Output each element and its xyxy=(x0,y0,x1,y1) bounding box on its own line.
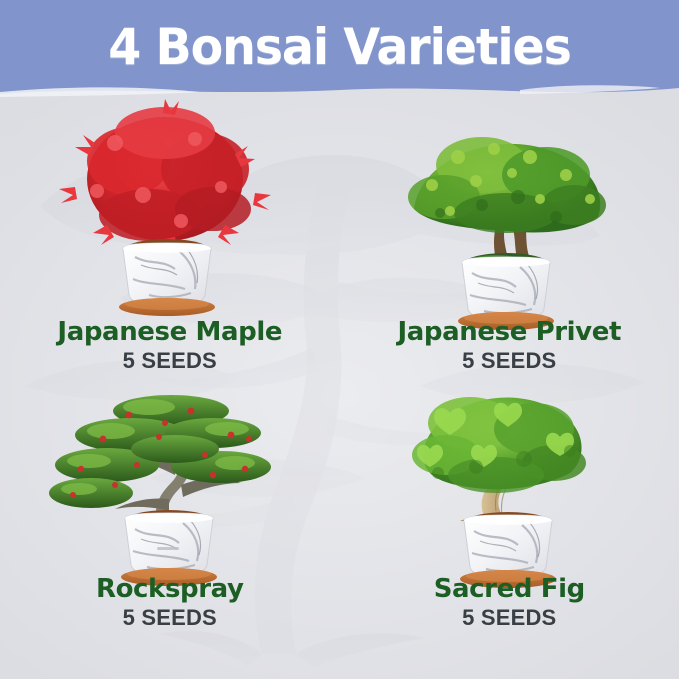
variety-quantity: 5 SEEDS xyxy=(0,348,340,374)
maple-canopy-icon xyxy=(59,99,271,253)
variety-quantity: 5 SEEDS xyxy=(0,605,340,631)
poster-root: 4 Bonsai Varieties xyxy=(0,0,679,679)
variety-card-japanese-maple[interactable]: Japanese Maple 5 SEEDS xyxy=(0,99,340,389)
japanese-maple-plant-illustration xyxy=(45,99,295,319)
sacred-fig-plant-illustration xyxy=(384,389,634,589)
variety-grid: Japanese Maple 5 SEEDS xyxy=(0,99,679,679)
rockspray-plant-illustration xyxy=(45,389,295,589)
variety-card-japanese-privet[interactable]: Japanese Privet 5 SEEDS xyxy=(340,99,679,389)
privet-canopy-icon xyxy=(408,137,606,233)
sacred-fig-label-group: Sacred Fig 5 SEEDS xyxy=(340,574,679,631)
variety-quantity: 5 SEEDS xyxy=(340,605,679,631)
terracotta-saucer-icon xyxy=(119,298,215,316)
japanese-privet-label-group: Japanese Privet 5 SEEDS xyxy=(340,317,679,374)
rockspray-label-group: Rockspray 5 SEEDS xyxy=(0,574,340,631)
japanese-maple-label-group: Japanese Maple 5 SEEDS xyxy=(0,317,340,374)
variety-name: Japanese Privet xyxy=(340,317,679,347)
variety-name: Sacred Fig xyxy=(340,574,679,604)
page-title: 4 Bonsai Varieties xyxy=(17,20,662,74)
variety-name: Rockspray xyxy=(0,574,340,604)
variety-card-sacred-fig[interactable]: Sacred Fig 5 SEEDS xyxy=(340,389,679,679)
japanese-privet-plant-illustration xyxy=(384,113,634,333)
fig-canopy-icon xyxy=(412,397,586,493)
header-banner: 4 Bonsai Varieties xyxy=(0,0,679,99)
variety-quantity: 5 SEEDS xyxy=(340,348,679,374)
variety-name: Japanese Maple xyxy=(0,317,340,347)
variety-card-rockspray[interactable]: Rockspray 5 SEEDS xyxy=(0,389,340,679)
